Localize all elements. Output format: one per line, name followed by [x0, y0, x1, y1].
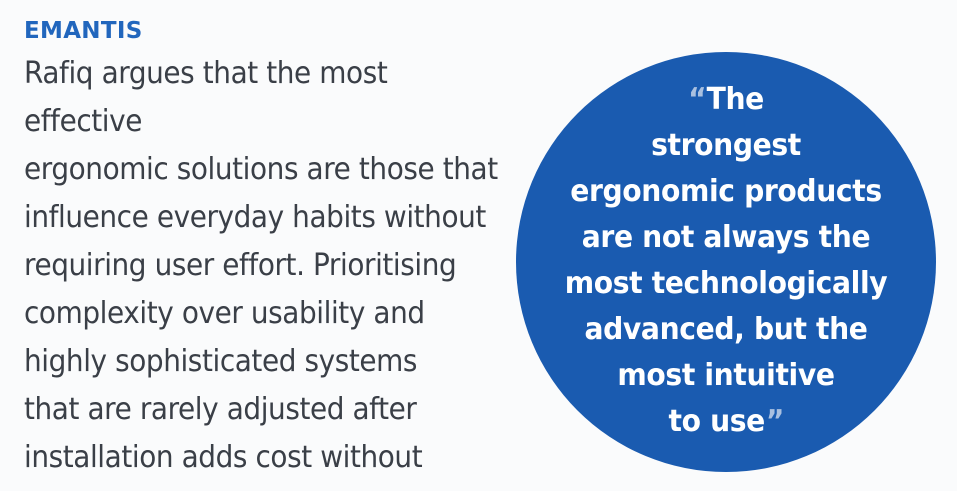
close-quote-icon: ” [766, 404, 784, 439]
article-body-text: Rafiq argues that the most effective erg… [24, 50, 500, 491]
pull-quote-inner: “The strongest ergonomic products are no… [530, 77, 922, 447]
open-quote-icon: “ [688, 82, 706, 117]
pull-quote-circle: “The strongest ergonomic products are no… [516, 52, 936, 472]
article-text-column: EMANTIS Rafiq argues that the most effec… [24, 14, 544, 491]
pull-quote-layout: EMANTIS Rafiq argues that the most effec… [0, 0, 957, 491]
pull-quote-text: “The strongest ergonomic products are no… [542, 77, 910, 445]
section-title: EMANTIS [24, 14, 544, 48]
pull-quote-body: The strongest ergonomic products are not… [565, 82, 888, 439]
